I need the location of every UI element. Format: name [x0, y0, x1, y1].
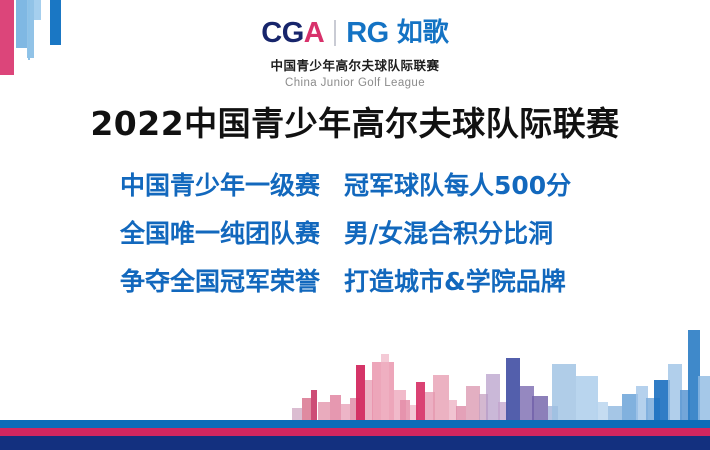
city-skyline-graphic [0, 280, 710, 420]
skyline-building [341, 404, 350, 420]
skyline-building [552, 364, 576, 420]
skyline-building [365, 380, 373, 420]
slogan-right-text: 冠军球队每人500分 [344, 166, 590, 202]
skyline-building [608, 406, 622, 420]
skyline-building [449, 400, 457, 420]
skyline-building [532, 396, 548, 420]
logo-cga-wordmark: CGA [261, 19, 324, 48]
logo-rg-wordmark: RG [346, 19, 389, 48]
skyline-building [433, 375, 449, 420]
logo-wordmark-row: CGA RG 如歌 [0, 18, 710, 48]
skyline-building [356, 365, 365, 420]
bottom-stripes [0, 420, 710, 450]
stripe-navy [0, 436, 710, 450]
skyline-building [576, 376, 598, 420]
slogan-row: 中国青少年一级赛 冠军球队每人500分 [0, 160, 710, 208]
stripe-pink [0, 428, 710, 436]
stripe-blue [0, 420, 710, 428]
skyline-building [520, 386, 534, 420]
skyline-building [466, 386, 480, 420]
logo-subtitle-chinese: 中国青少年高尔夫球队际联赛 [0, 55, 710, 74]
logo-letter-a: A [304, 17, 324, 49]
skyline-building [292, 408, 302, 420]
skyline-building [311, 390, 317, 420]
skyline-building [381, 354, 389, 420]
skyline-building [506, 358, 520, 420]
skyline-building [302, 398, 311, 420]
logo-divider [334, 20, 336, 46]
skyline-building [330, 395, 341, 420]
skyline-building [622, 394, 638, 420]
logo-rugo-wordmark: 如歌 [397, 20, 449, 46]
logo-letter-g: G [282, 17, 304, 49]
brand-logo-lockup: CGA RG 如歌 中国青少年高尔夫球队际联赛 China Junior Gol… [0, 18, 710, 89]
skyline-building [416, 382, 425, 420]
skyline-building [596, 402, 608, 420]
slogan-row: 全国唯一纯团队赛 男/女混合积分比洞 [0, 208, 710, 256]
poster-canvas: CGA RG 如歌 中国青少年高尔夫球队际联赛 China Junior Gol… [0, 0, 710, 450]
slogan-left-text: 中国青少年一级赛 [120, 166, 344, 202]
skyline-building [318, 402, 330, 420]
skyline-building [668, 364, 682, 420]
skyline-building [698, 376, 710, 420]
slogan-right-text: 男/女混合积分比洞 [344, 214, 590, 250]
skyline-building [654, 380, 670, 420]
corner-bar-lightblue-3 [34, 0, 41, 20]
skyline-building [456, 406, 466, 420]
slogan-left-text: 全国唯一纯团队赛 [120, 214, 344, 250]
logo-letter-c: C [261, 17, 281, 49]
page-title: 2022中国青少年高尔夫球队际联赛 [0, 97, 710, 145]
skyline-building [400, 400, 410, 420]
skyline-building [486, 374, 500, 420]
logo-subtitle-english: China Junior Golf League [0, 77, 710, 89]
